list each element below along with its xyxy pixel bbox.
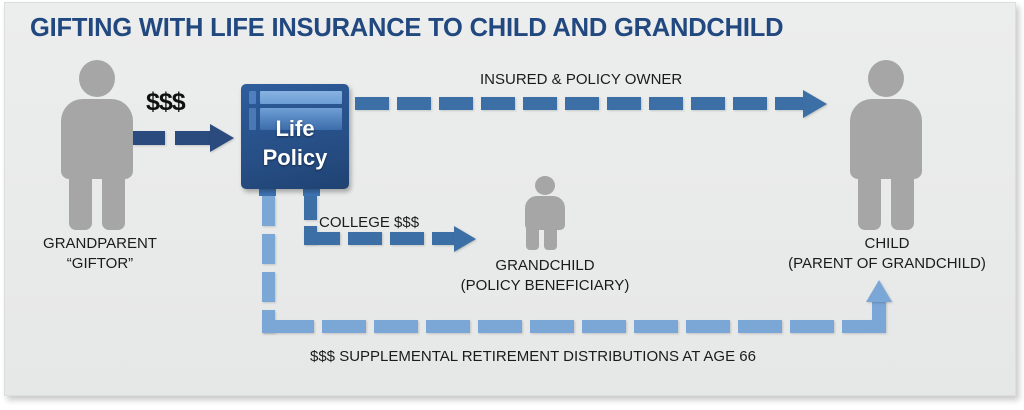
retirement-arrow-dash bbox=[262, 272, 275, 302]
gift-money-label: $$$ bbox=[146, 88, 185, 117]
retirement-arrow-dash bbox=[582, 320, 626, 333]
retirement-arrow-dash bbox=[262, 196, 275, 226]
college-arrow-dash bbox=[304, 232, 340, 245]
gift-arrow-dash bbox=[133, 131, 165, 145]
person-leg-left bbox=[69, 172, 92, 230]
grandchild-person-icon bbox=[518, 176, 572, 250]
child-label-line2: (PARENT OF GRANDCHILD) bbox=[753, 254, 1021, 274]
insured-arrow-dash bbox=[355, 97, 389, 110]
retirement-arrow-dash bbox=[790, 320, 834, 333]
retirement-arrow-dash bbox=[426, 320, 470, 333]
person-leg-right bbox=[102, 172, 125, 230]
child-label-line1: CHILD bbox=[864, 235, 909, 252]
insured-arrow-dash bbox=[523, 97, 557, 110]
child-caption: CHILD (PARENT OF GRANDCHILD) bbox=[753, 234, 1021, 274]
retirement-arrow-dash bbox=[872, 300, 886, 333]
college-arrow-dash bbox=[348, 232, 382, 245]
insured-owner-label: INSURED & POLICY OWNER bbox=[480, 71, 682, 88]
person-leg-left bbox=[526, 226, 539, 250]
person-head bbox=[79, 60, 115, 97]
grandparent-person-icon bbox=[54, 60, 140, 230]
diagram-canvas: GIFTING WITH LIFE INSURANCE TO CHILD AND… bbox=[0, 0, 1024, 410]
person-torso bbox=[850, 99, 922, 179]
retirement-arrow-dash bbox=[686, 320, 730, 333]
insured-arrow-dash bbox=[607, 97, 641, 110]
page-title: GIFTING WITH LIFE INSURANCE TO CHILD AND… bbox=[30, 14, 783, 43]
policy-label-line1: Life bbox=[241, 114, 349, 143]
retirement-arrow-dash bbox=[322, 320, 366, 333]
person-leg-right bbox=[544, 226, 557, 250]
insured-arrow-dash bbox=[397, 97, 431, 110]
retirement-arrow-dash bbox=[842, 320, 872, 333]
child-person-icon bbox=[843, 60, 929, 230]
retirement-label: $$$ SUPPLEMENTAL RETIREMENT DISTRIBUTION… bbox=[310, 348, 756, 365]
person-leg-right bbox=[891, 172, 914, 230]
grandchild-label-line1: GRANDCHILD bbox=[495, 257, 594, 274]
retirement-arrow-dash bbox=[262, 320, 314, 333]
college-arrowhead-icon bbox=[454, 226, 476, 252]
retirement-arrow-dash bbox=[374, 320, 418, 333]
policy-label-line2: Policy bbox=[241, 143, 349, 172]
policy-book-tab-right bbox=[303, 188, 320, 196]
college-arrow-dash bbox=[390, 232, 424, 245]
insured-arrow-dash bbox=[481, 97, 515, 110]
person-head bbox=[535, 176, 555, 195]
college-label: COLLEGE $$$ bbox=[319, 214, 419, 231]
grandparent-caption: GRANDPARENT “GIFTOR” bbox=[0, 234, 200, 274]
insured-arrow-dash bbox=[691, 97, 725, 110]
insured-arrow-dash bbox=[439, 97, 473, 110]
insured-arrow-dash bbox=[733, 97, 767, 110]
person-head bbox=[868, 60, 904, 97]
college-arrow-dash bbox=[304, 196, 317, 220]
person-torso bbox=[525, 196, 565, 230]
retirement-arrowhead-icon bbox=[866, 280, 892, 302]
grandchild-caption: GRANDCHILD (POLICY BENEFICIARY) bbox=[425, 256, 665, 296]
retirement-arrow-dash bbox=[634, 320, 678, 333]
gift-arrowhead-icon bbox=[210, 124, 234, 152]
grandparent-label-line1: GRANDPARENT bbox=[43, 235, 157, 252]
insured-arrow-dash bbox=[565, 97, 599, 110]
insured-arrow-dash bbox=[775, 97, 804, 110]
person-torso bbox=[61, 99, 133, 179]
retirement-arrow-dash bbox=[478, 320, 522, 333]
life-policy-label: Life Policy bbox=[241, 114, 349, 172]
grandparent-label-line2: “GIFTOR” bbox=[0, 254, 200, 274]
book-bar-top bbox=[260, 91, 342, 104]
gift-arrow-dash bbox=[175, 131, 211, 145]
retirement-arrow-dash bbox=[530, 320, 574, 333]
retirement-arrow-dash bbox=[738, 320, 782, 333]
life-policy-box[interactable]: Life Policy bbox=[241, 84, 349, 189]
grandchild-label-line2: (POLICY BENEFICIARY) bbox=[425, 276, 665, 296]
insured-arrowhead-icon bbox=[803, 90, 827, 118]
person-leg-left bbox=[858, 172, 881, 230]
policy-book-tab-left bbox=[259, 188, 276, 196]
book-spine-top bbox=[249, 91, 256, 104]
insured-arrow-dash bbox=[649, 97, 683, 110]
college-arrow-dash bbox=[432, 232, 455, 245]
retirement-arrow-dash bbox=[262, 234, 275, 264]
